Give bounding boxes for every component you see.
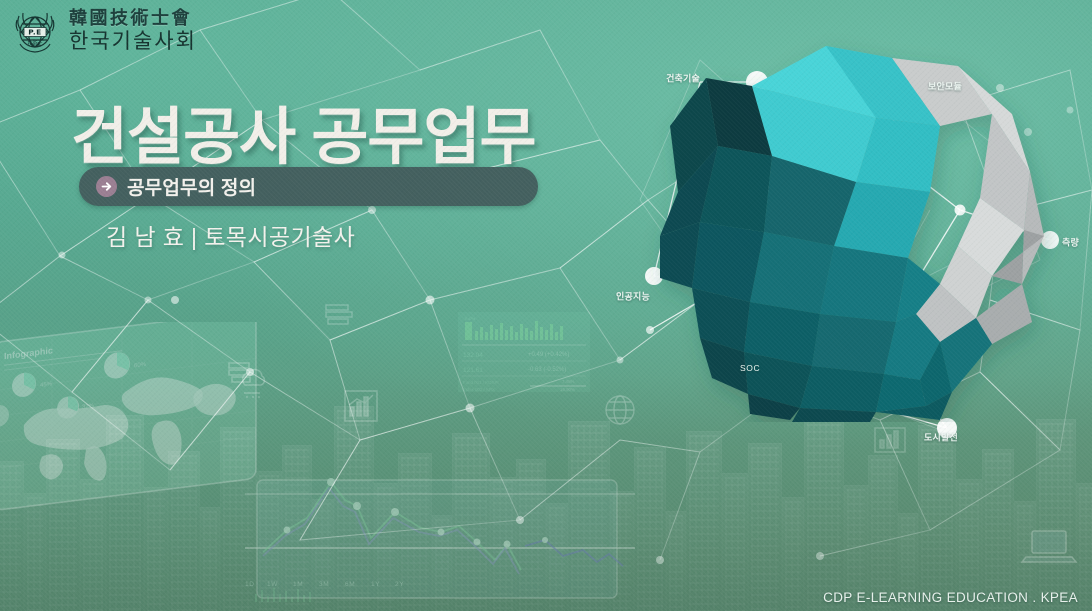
svg-text:P.E: P.E: [28, 28, 41, 37]
organization-korean-name: 한국기술사회: [69, 31, 197, 52]
subtitle-bar: 공무업무의 정의: [79, 167, 538, 206]
svg-text:技術士: 技術士: [27, 40, 42, 47]
svg-text:132.04: 132.04: [463, 352, 483, 359]
city-overlay-gradient: [0, 376, 1092, 611]
page-title: 건설공사 공무업무: [71, 86, 536, 176]
node-architecture: [746, 71, 768, 93]
low-poly-sphere-graphic: [640, 22, 1092, 422]
svg-text:-0.63 (-0.52%): -0.63 (-0.52%): [528, 367, 566, 373]
arrow-right-circle-icon: [96, 176, 117, 197]
node-ai: [645, 267, 663, 285]
node-label-artificial-intelligence: 인공지능: [616, 290, 650, 303]
node-label-security-module: 보안모듈: [928, 80, 962, 93]
svg-text:60%: 60%: [134, 362, 147, 370]
author-line: 김 남 효 | 토목시공기술사: [106, 218, 355, 252]
organization-logo: P.E 技術士 韓國技術士會 한국기술사회: [10, 6, 197, 56]
node-surveying: [1041, 231, 1059, 249]
svg-text:Infographic: Infographic: [4, 345, 53, 361]
node-label-architecture: 건축기술: [666, 72, 700, 85]
subtitle-label: 공무업무의 정의: [127, 173, 256, 200]
node-label-surveying: 측량: [1062, 236, 1079, 249]
globe-wreath-pe-emblem-icon: P.E 技術士: [10, 6, 60, 56]
organization-hanja-name: 韓國技術士會: [69, 10, 197, 28]
svg-text:121.61: 121.61: [463, 367, 483, 374]
node-label-soc: SOC: [740, 363, 760, 373]
slide-canvas: Infographic 45%: [0, 0, 1092, 611]
books-stack-icon: [322, 300, 356, 330]
svg-text:+0.49 (+0.42%): +0.49 (+0.42%): [528, 352, 569, 358]
footer-branding: CDP E-LEARNING EDUCATION . KPEA: [823, 590, 1078, 605]
svg-text:0.47%: 0.47%: [465, 317, 476, 321]
node-security-module: [905, 82, 921, 98]
